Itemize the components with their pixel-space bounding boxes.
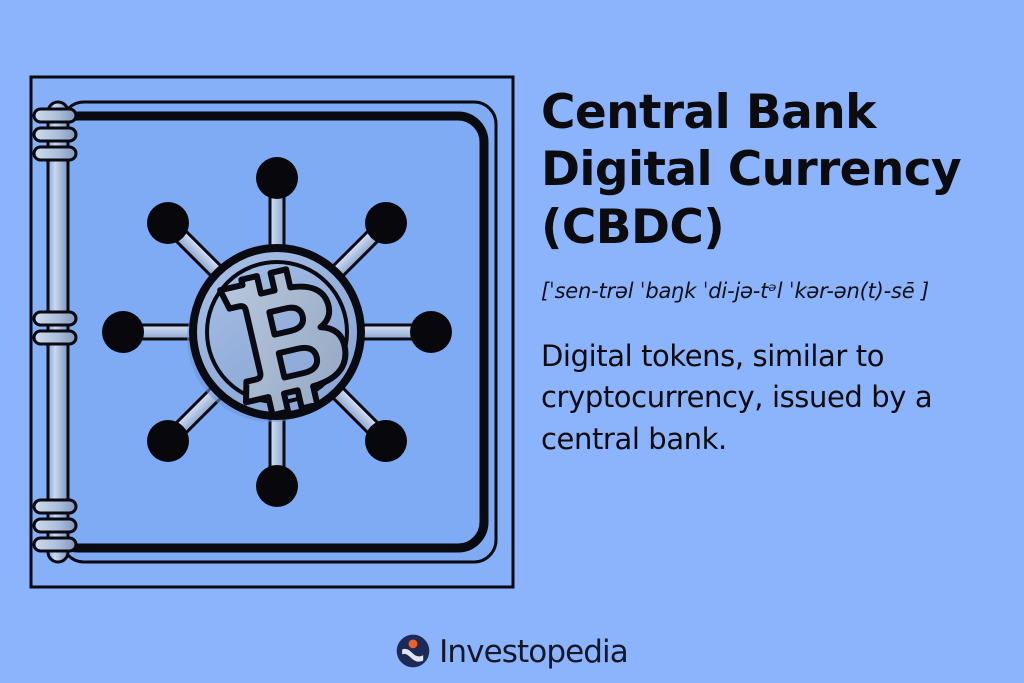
network-node xyxy=(256,157,298,199)
definition-card: Central Bank Digital Currency (CBDC) [ˈs… xyxy=(0,0,1024,683)
network-node xyxy=(410,311,452,353)
term-title: Central Bank Digital Currency (CBDC) xyxy=(541,84,1003,256)
network-node xyxy=(365,420,407,462)
network-node xyxy=(256,465,298,507)
investopedia-logo-mark-icon xyxy=(396,634,430,668)
term-description: Digital tokens, similar to cryptocurrenc… xyxy=(541,336,981,460)
illustration-bitcoin-network-book xyxy=(22,68,522,596)
bitcoin-coin xyxy=(193,248,361,420)
network-graphic xyxy=(102,157,452,507)
investopedia-logo: Investopedia xyxy=(0,628,1024,674)
network-node xyxy=(147,420,189,462)
term-pronunciation: [ˈsen-trəl ˈbaŋk ˈdi-jə-tᵊl ˈkər-ən(t)-s… xyxy=(541,278,1003,305)
network-node xyxy=(102,311,144,353)
network-node xyxy=(365,202,407,244)
term-text-column: Central Bank Digital Currency (CBDC) [ˈs… xyxy=(541,84,1003,460)
network-node xyxy=(147,202,189,244)
investopedia-wordmark: Investopedia xyxy=(439,637,628,668)
